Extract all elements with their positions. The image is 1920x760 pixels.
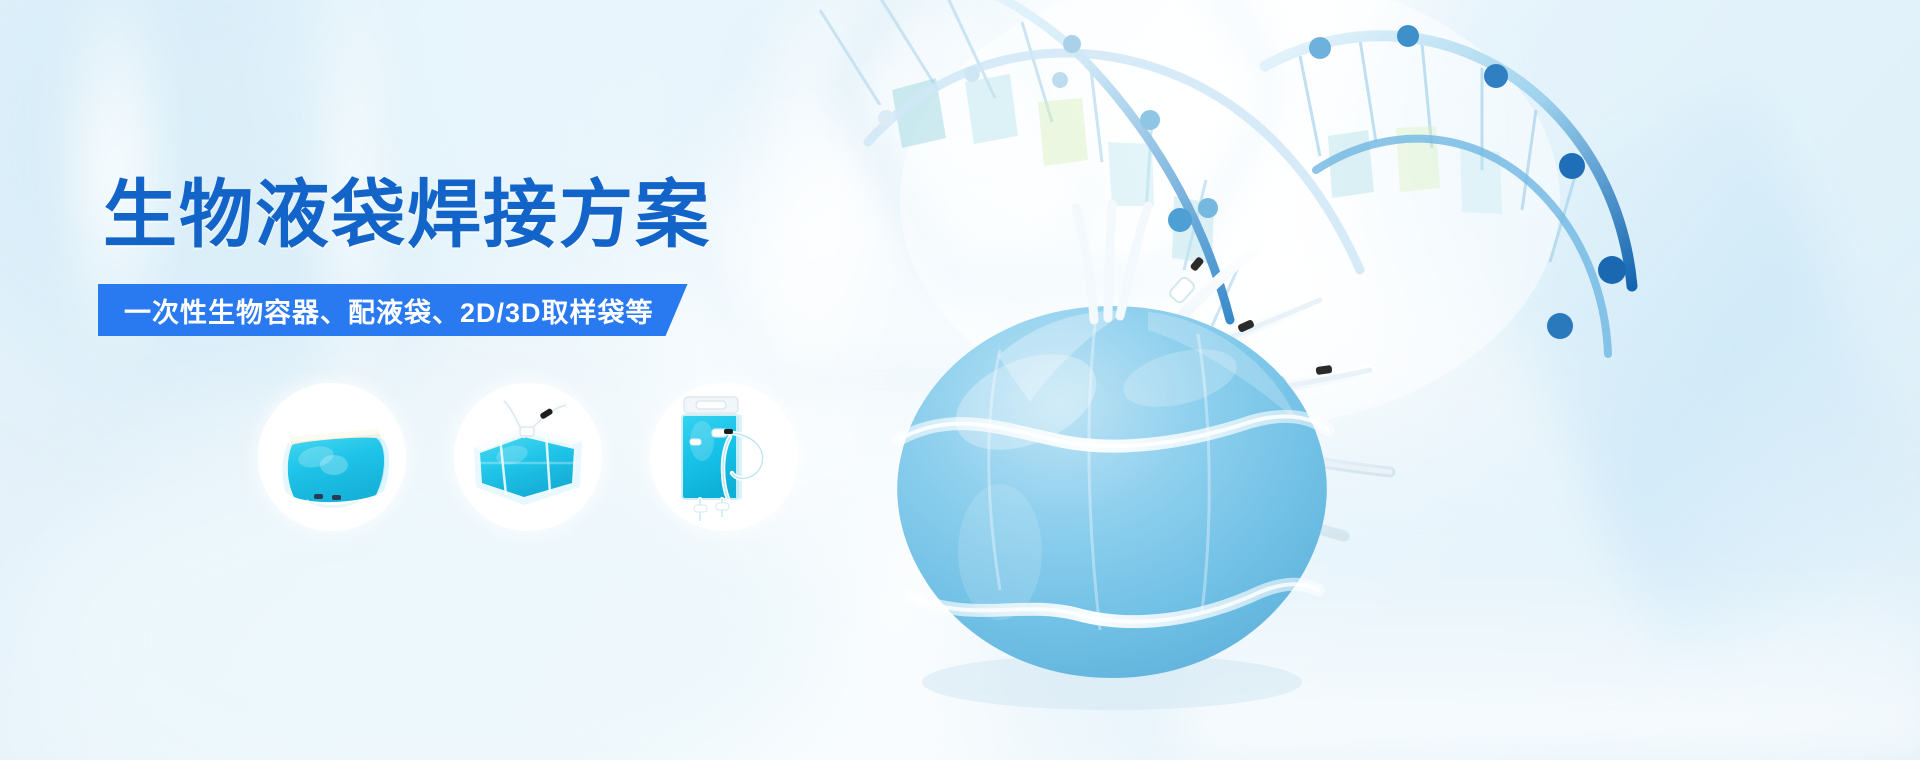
pillow-bag-thumb[interactable]: [258, 383, 406, 531]
hero-banner: 生物液袋焊接方案 一次性生物容器、配液袋、2D/3D取样袋等: [0, 0, 1920, 760]
sampling-bag-thumb[interactable]: [454, 383, 602, 531]
bioprocess-bag-image: [880, 290, 1340, 710]
tubing-bag-thumb[interactable]: [650, 383, 798, 531]
page-title: 生物液袋焊接方案: [103, 178, 711, 252]
subtitle-banner: 一次性生物容器、配液袋、2D/3D取样袋等: [98, 284, 688, 336]
subtitle-text: 一次性生物容器、配液袋、2D/3D取样袋等: [124, 291, 654, 330]
product-thumbnail-list: [258, 383, 858, 553]
